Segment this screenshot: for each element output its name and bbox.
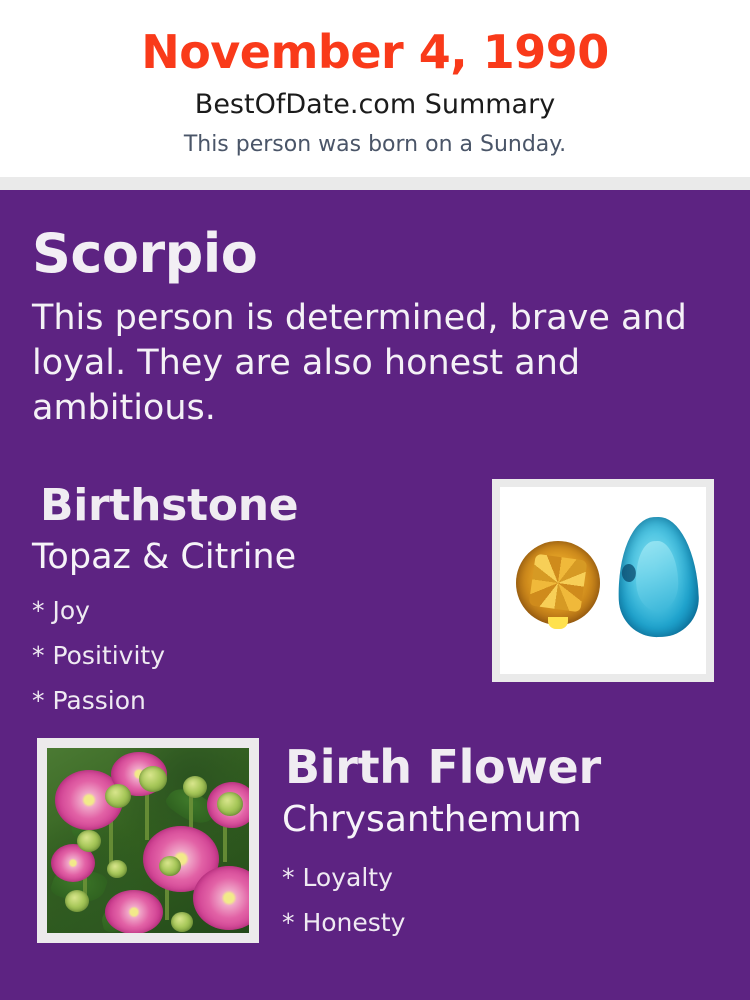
birthstone-name: Topaz & Citrine bbox=[32, 535, 296, 579]
flower-bud bbox=[171, 912, 193, 932]
flower-bud bbox=[107, 860, 127, 878]
birthstone-image bbox=[500, 487, 706, 674]
flower-bud bbox=[139, 766, 167, 792]
topaz-gem-icon bbox=[616, 516, 700, 639]
list-item: * Passion bbox=[32, 678, 452, 723]
birthstone-trait-list: * Joy * Positivity * Passion bbox=[32, 588, 452, 723]
birth-flower-image-frame bbox=[37, 738, 259, 943]
flower-bud bbox=[77, 830, 101, 852]
header-divider bbox=[0, 177, 750, 190]
birth-day-note: This person was born on a Sunday. bbox=[0, 130, 750, 160]
site-name: BestOfDate.com Summary bbox=[0, 88, 750, 122]
list-item: * Joy bbox=[32, 588, 452, 633]
flower-bud bbox=[217, 792, 243, 816]
flower-bud bbox=[65, 890, 89, 912]
zodiac-sign-title: Scorpio bbox=[32, 222, 257, 286]
flower-bud bbox=[183, 776, 207, 798]
list-item: * Honesty bbox=[282, 900, 682, 945]
flower-bloom bbox=[193, 866, 249, 930]
flower-bud bbox=[159, 856, 181, 876]
citrine-gem-icon bbox=[516, 541, 600, 625]
birth-flower-image bbox=[47, 748, 249, 933]
flower-bud bbox=[105, 784, 131, 808]
birthstone-image-frame bbox=[492, 479, 714, 682]
flower-bloom bbox=[105, 890, 163, 933]
page-title: November 4, 1990 bbox=[0, 22, 750, 82]
summary-card: November 4, 1990 BestOfDate.com Summary … bbox=[0, 0, 750, 1000]
birthstone-heading: Birthstone bbox=[40, 480, 298, 532]
birth-flower-name: Chrysanthemum bbox=[282, 798, 582, 842]
list-item: * Positivity bbox=[32, 633, 452, 678]
birth-flower-trait-list: * Loyalty * Honesty bbox=[282, 855, 682, 945]
card-header: November 4, 1990 BestOfDate.com Summary … bbox=[0, 0, 750, 177]
birth-flower-heading: Birth Flower bbox=[285, 740, 601, 794]
list-item: * Loyalty bbox=[282, 855, 682, 900]
zodiac-description: This person is determined, brave and loy… bbox=[32, 296, 702, 431]
